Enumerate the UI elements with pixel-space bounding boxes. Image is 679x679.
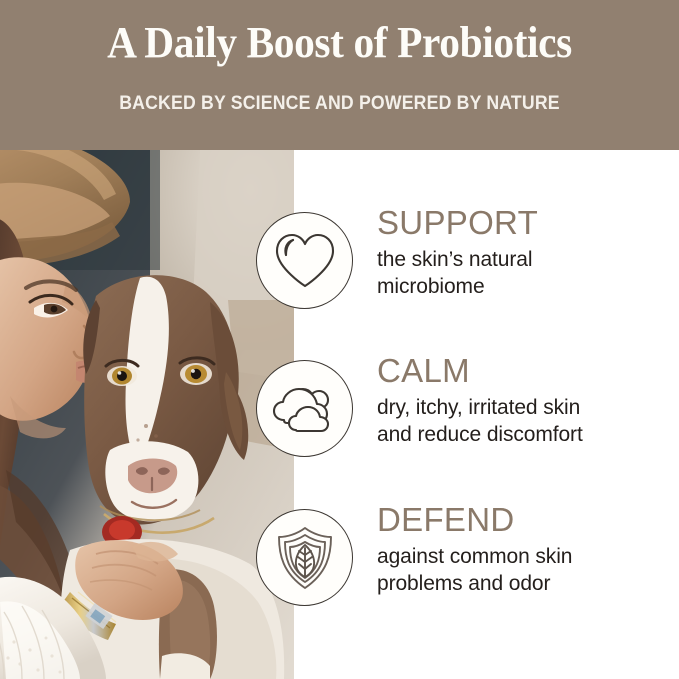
page-subtitle: BACKED BY SCIENCE AND POWERED BY NATURE [24, 92, 655, 116]
shield-leaf-icon-glyph [273, 525, 337, 591]
feature-body-line: microbiome [377, 273, 677, 300]
feature-text-defend: DEFEND against common skin problems and … [377, 501, 677, 597]
feature-row-calm: CALM dry, itchy, irritated skin and redu… [0, 352, 679, 464]
feature-heading: CALM [377, 352, 677, 390]
infographic-root: A Daily Boost of Probiotics BACKED BY SC… [0, 0, 679, 679]
feature-row-support: SUPPORT the skin’s natural microbiome [0, 204, 679, 316]
shield-leaf-icon [256, 509, 353, 606]
feature-heading: DEFEND [377, 501, 677, 539]
feature-body-line: against common skin [377, 543, 677, 570]
feature-row-defend: DEFEND against common skin problems and … [0, 501, 679, 613]
header-banner: A Daily Boost of Probiotics BACKED BY SC… [0, 0, 679, 150]
feature-body-line: and reduce discomfort [377, 421, 677, 448]
heart-icon [256, 212, 353, 309]
heart-icon-glyph [272, 231, 338, 291]
feature-text-support: SUPPORT the skin’s natural microbiome [377, 204, 677, 300]
feature-body: dry, itchy, irritated skin and reduce di… [377, 394, 677, 448]
feature-heading: SUPPORT [377, 204, 677, 242]
cloud-icon-glyph [271, 380, 339, 438]
feature-body: the skin’s natural microbiome [377, 246, 677, 300]
feature-body-line: dry, itchy, irritated skin [377, 394, 677, 421]
feature-body-line: the skin’s natural [377, 246, 677, 273]
feature-body: against common skin problems and odor [377, 543, 677, 597]
feature-text-calm: CALM dry, itchy, irritated skin and redu… [377, 352, 677, 448]
page-title: A Daily Boost of Probiotics [20, 17, 658, 69]
feature-body-line: problems and odor [377, 570, 677, 597]
cloud-icon [256, 360, 353, 457]
